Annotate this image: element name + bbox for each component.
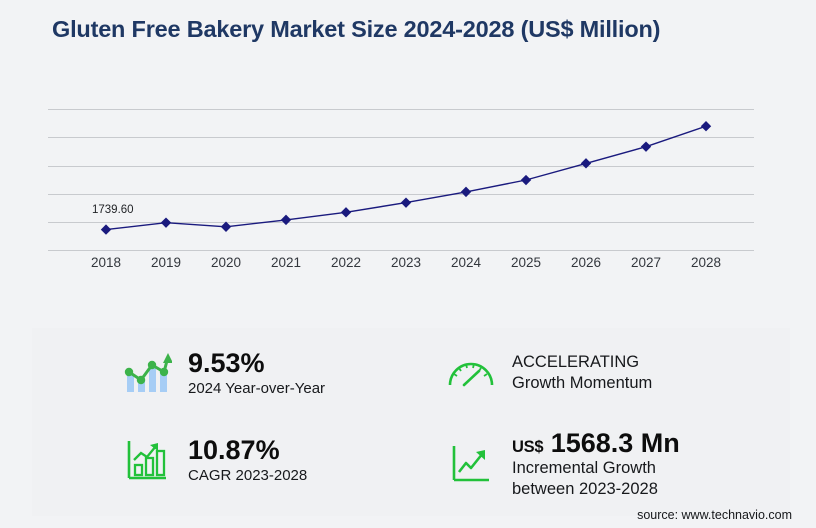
- stat-currency: US$: [512, 438, 543, 456]
- stat-value: 10.87%: [188, 435, 307, 465]
- data-point-2024: [461, 187, 471, 197]
- stat-caption: Growth Momentum: [512, 373, 652, 394]
- trend-arrow-icon: [444, 437, 498, 491]
- stat-text: US$ 1568.3 Mn Incremental Growth between…: [512, 428, 680, 500]
- line-chart: 1739.60 2018 2019 2020 2021 2022 2023 20…: [0, 0, 816, 300]
- stat-incremental-growth: US$ 1568.3 Mn Incremental Growth between…: [444, 428, 680, 500]
- x-tick-2026: 2026: [571, 255, 601, 270]
- stat-caption-line2: between 2023-2028: [512, 479, 680, 500]
- data-point-2023: [401, 197, 411, 207]
- stat-caption: CAGR 2023-2028: [188, 466, 307, 485]
- data-point-2018: [101, 224, 111, 234]
- x-axis: 2018 2019 2020 2021 2022 2023 2024 2025 …: [48, 255, 754, 277]
- data-point-2020: [221, 222, 231, 232]
- x-tick-2019: 2019: [151, 255, 181, 270]
- stat-growth-momentum: ACCELERATING Growth Momentum: [444, 346, 652, 400]
- stat-text: 9.53% 2024 Year-over-Year: [188, 348, 325, 397]
- data-point-2028: [701, 121, 711, 131]
- speedometer-icon: [444, 346, 498, 400]
- x-tick-2018: 2018: [91, 255, 121, 270]
- stat-caption-line1: Incremental Growth: [512, 458, 680, 479]
- x-tick-2028: 2028: [691, 255, 721, 270]
- stat-value: US$ 1568.3 Mn: [512, 428, 680, 458]
- stat-text: 10.87% CAGR 2023-2028: [188, 435, 307, 484]
- gridline: [48, 250, 754, 251]
- stat-amount: 1568.3 Mn: [551, 428, 680, 458]
- stat-value: ACCELERATING: [512, 352, 652, 373]
- data-point-2019: [161, 217, 171, 227]
- data-point-2026: [581, 158, 591, 168]
- data-point-label-2018: 1739.60: [92, 204, 134, 216]
- x-tick-2023: 2023: [391, 255, 421, 270]
- data-point-2022: [341, 207, 351, 217]
- x-tick-2024: 2024: [451, 255, 481, 270]
- x-tick-2021: 2021: [271, 255, 301, 270]
- stat-cagr: 10.87% CAGR 2023-2028: [120, 433, 307, 487]
- stat-caption: 2024 Year-over-Year: [188, 379, 325, 398]
- data-point-2021: [281, 215, 291, 225]
- series-line: [48, 109, 754, 250]
- data-point-2027: [641, 141, 651, 151]
- stats-panel: 9.53% 2024 Year-over-Year ACCELERATING: [32, 328, 790, 516]
- source-attribution: source: www.technavio.com: [637, 508, 792, 522]
- x-tick-2020: 2020: [211, 255, 241, 270]
- x-tick-2025: 2025: [511, 255, 541, 270]
- bar-chart-arrow-icon: [120, 433, 174, 487]
- bar-line-growth-icon: [120, 346, 174, 400]
- x-tick-2022: 2022: [331, 255, 361, 270]
- stat-value: 9.53%: [188, 348, 325, 378]
- stat-text: ACCELERATING Growth Momentum: [512, 352, 652, 395]
- x-tick-2027: 2027: [631, 255, 661, 270]
- stat-year-over-year: 9.53% 2024 Year-over-Year: [120, 346, 325, 400]
- plot-area: 1739.60: [48, 109, 754, 250]
- data-point-2025: [521, 175, 531, 185]
